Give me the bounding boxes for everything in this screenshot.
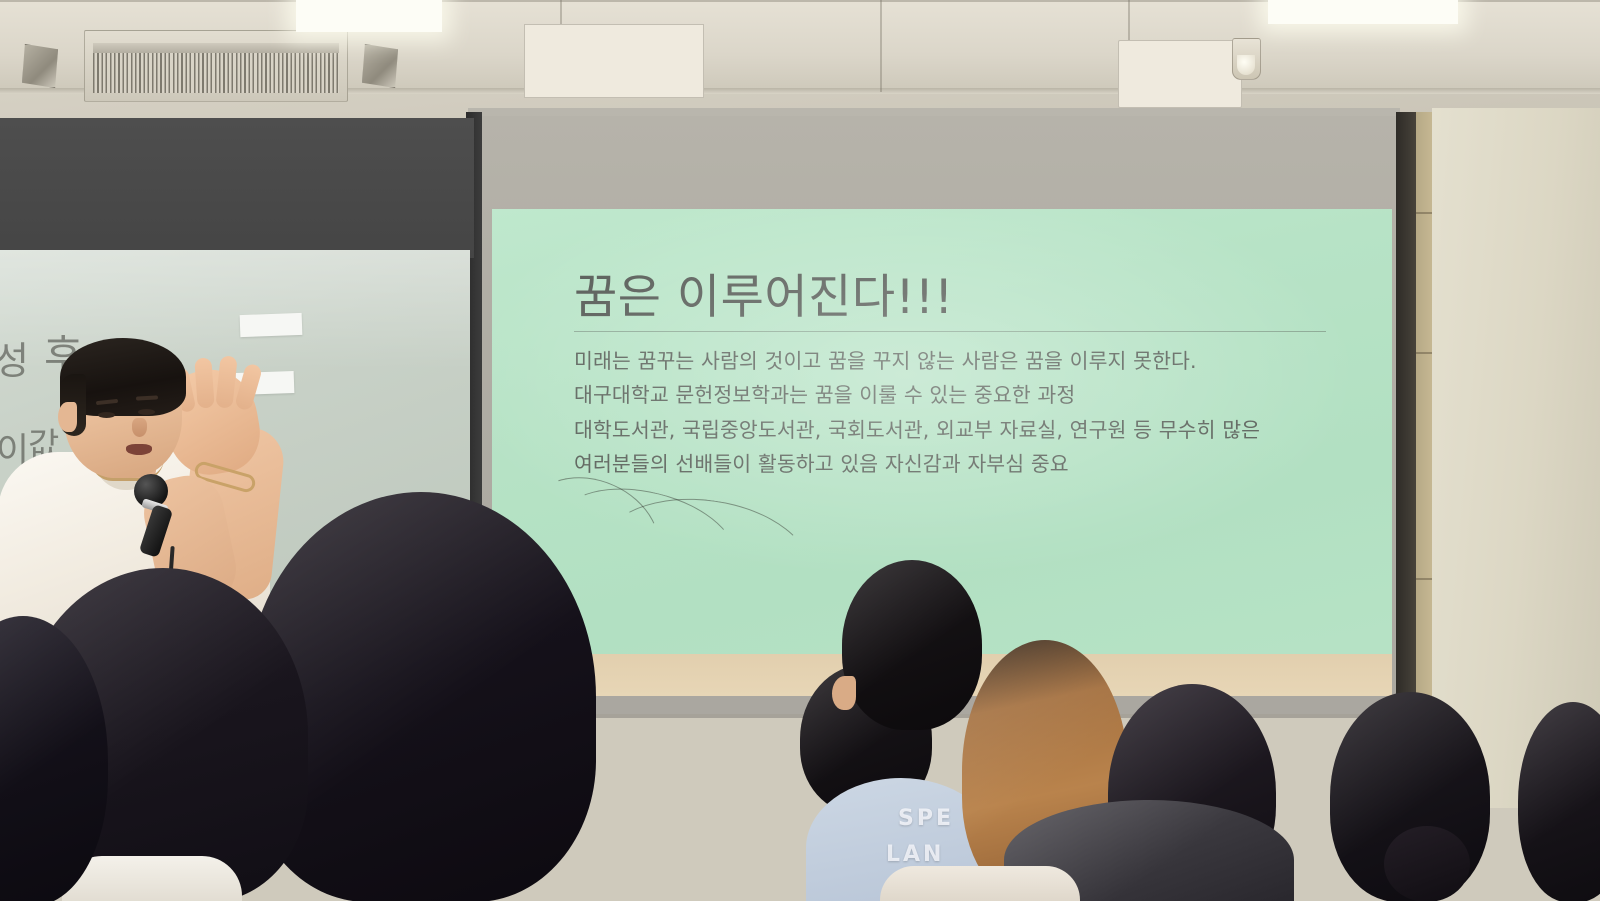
- ceiling-access-hatch: [1118, 40, 1242, 108]
- presenter-nose: [132, 418, 147, 437]
- shirt-text-line: LAN: [886, 842, 944, 867]
- presenter-mouth: [126, 444, 152, 455]
- audience-hair-bun: [1384, 826, 1470, 901]
- slide-text-block: 미래는 꿈꾸는 사람의 것이고 꿈을 꾸지 않는 사람은 꿈을 이루지 못한다.…: [574, 344, 1344, 482]
- presenter-ear: [58, 402, 77, 432]
- presenter-eye: [98, 412, 115, 418]
- presenter-finger: [194, 357, 214, 408]
- ceiling-light-panel: [1268, 0, 1458, 24]
- hair-sheen: [842, 560, 982, 730]
- presenter-eye: [138, 409, 155, 415]
- slide-line: 미래는 꿈꾸는 사람의 것이고 꿈을 꾸지 않는 사람은 꿈을 이루지 못한다.: [574, 344, 1344, 378]
- ceiling-light-panel: [296, 0, 442, 32]
- shirt-text-line: SPE: [898, 806, 954, 831]
- audience-ear: [832, 676, 856, 710]
- ac-side-vent: [22, 44, 58, 88]
- ac-side-vent: [362, 44, 398, 88]
- classroom-photo: 꿈은 이루어진다!!! 미래는 꿈꾸는 사람의 것이고 꿈을 꾸지 않는 사람은…: [0, 0, 1600, 901]
- slide-content: 꿈은 이루어진다!!! 미래는 꿈꾸는 사람의 것이고 꿈을 꾸지 않는 사람은…: [574, 272, 1344, 481]
- slide-line: 대구대학교 문헌정보학과는 꿈을 이룰 수 있는 중요한 과정: [574, 378, 1344, 412]
- ceiling-sensor-icon: [1232, 38, 1261, 80]
- ac-grille: [93, 53, 339, 93]
- audience-shoulders: [880, 866, 1080, 901]
- upper-left-wall-band: [0, 118, 474, 258]
- ceiling-air-conditioner-icon: [84, 30, 348, 102]
- slide-title: 꿈은 이루어진다!!!: [574, 272, 1344, 325]
- ceiling-seam: [880, 0, 882, 92]
- audience-head: [842, 560, 982, 730]
- slide-divider: [574, 331, 1326, 332]
- slide-line: 여러분들의 선배들이 활동하고 있음 자신감과 자부심 중요: [574, 447, 1344, 481]
- ac-lip: [93, 43, 339, 53]
- ceiling-light-recess: [524, 24, 704, 98]
- slide-line: 대학도서관, 국립중앙도서관, 국회도서관, 외교부 자료실, 연구원 등 무수…: [574, 413, 1344, 447]
